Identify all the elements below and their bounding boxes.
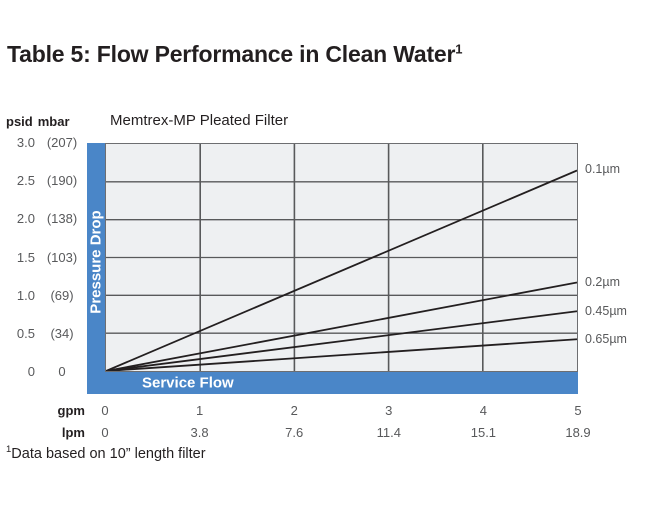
- x-axis-title-label: Service Flow: [142, 375, 234, 392]
- page-title: Table 5: Flow Performance in Clean Water…: [7, 41, 462, 68]
- x-axis-tick-lpm: 7.6: [264, 425, 324, 440]
- y-axis-unit-psid: psid: [6, 114, 33, 129]
- data-curve: [106, 339, 577, 371]
- horizontal-gridlines: [106, 182, 577, 333]
- chart-subtitle: Memtrex-MP Pleated Filter: [110, 112, 288, 129]
- y-axis-tick-mbar: (103): [41, 251, 83, 265]
- x-axis-tick-gpm: 4: [453, 403, 513, 418]
- y-axis-tick-psid: 1.5: [5, 251, 35, 265]
- y-axis-tick-mbar: (69): [41, 289, 83, 303]
- y-axis-tick-mbar: 0: [41, 365, 83, 379]
- footnote-text: Data based on 10” length filter: [11, 446, 205, 462]
- y-axis-tick-psid: 0: [5, 365, 35, 379]
- x-axis-tick-lpm: 15.1: [453, 425, 513, 440]
- footnote: 1Data based on 10” length filter: [6, 446, 206, 462]
- y-axis-tick-mbar: (207): [41, 136, 83, 150]
- x-axis-tick-lpm: 11.4: [359, 425, 419, 440]
- y-axis-tick-mbar: (138): [41, 212, 83, 226]
- y-axis-unit-mbar: mbar: [38, 114, 70, 129]
- chart-plot-area: [105, 143, 578, 372]
- y-axis-tick-psid: 3.0: [5, 136, 35, 150]
- y-axis-tick-psid: 0.5: [5, 327, 35, 341]
- series-label-0-1m: 0.1µm: [585, 162, 620, 176]
- y-axis-title-bar: Pressure Drop: [87, 143, 105, 380]
- x-axis-tick-lpm: 3.8: [170, 425, 230, 440]
- x-axis-tick-gpm: 1: [170, 403, 230, 418]
- chart-svg: [106, 144, 577, 371]
- x-axis-title-bar: Service Flow: [87, 372, 578, 394]
- x-axis-tick-lpm: 18.9: [548, 425, 608, 440]
- y-axis-tick-psid: 2.0: [5, 212, 35, 226]
- series-label-0-2m: 0.2µm: [585, 275, 620, 289]
- y-axis-tick-psid: 2.5: [5, 174, 35, 188]
- data-curves: [106, 170, 577, 371]
- x-axis-tick-gpm: 3: [359, 403, 419, 418]
- y-axis-tick-mbar: (190): [41, 174, 83, 188]
- y-axis-title-label: Pressure Drop: [88, 210, 105, 313]
- y-axis-tick-psid: 1.0: [5, 289, 35, 303]
- series-label-0-45m: 0.45µm: [585, 304, 627, 318]
- y-axis-tick-mbar: (34): [41, 327, 83, 341]
- page-title-footnote-marker: 1: [455, 41, 462, 56]
- x-axis-tick-gpm: 0: [75, 403, 135, 418]
- x-axis-tick-gpm: 5: [548, 403, 608, 418]
- page-title-text: Table 5: Flow Performance in Clean Water: [7, 41, 455, 67]
- x-axis-tick-gpm: 2: [264, 403, 324, 418]
- series-label-0-65m: 0.65µm: [585, 332, 627, 346]
- x-axis-tick-lpm: 0: [75, 425, 135, 440]
- y-axis-units-header: psidmbar: [6, 114, 70, 129]
